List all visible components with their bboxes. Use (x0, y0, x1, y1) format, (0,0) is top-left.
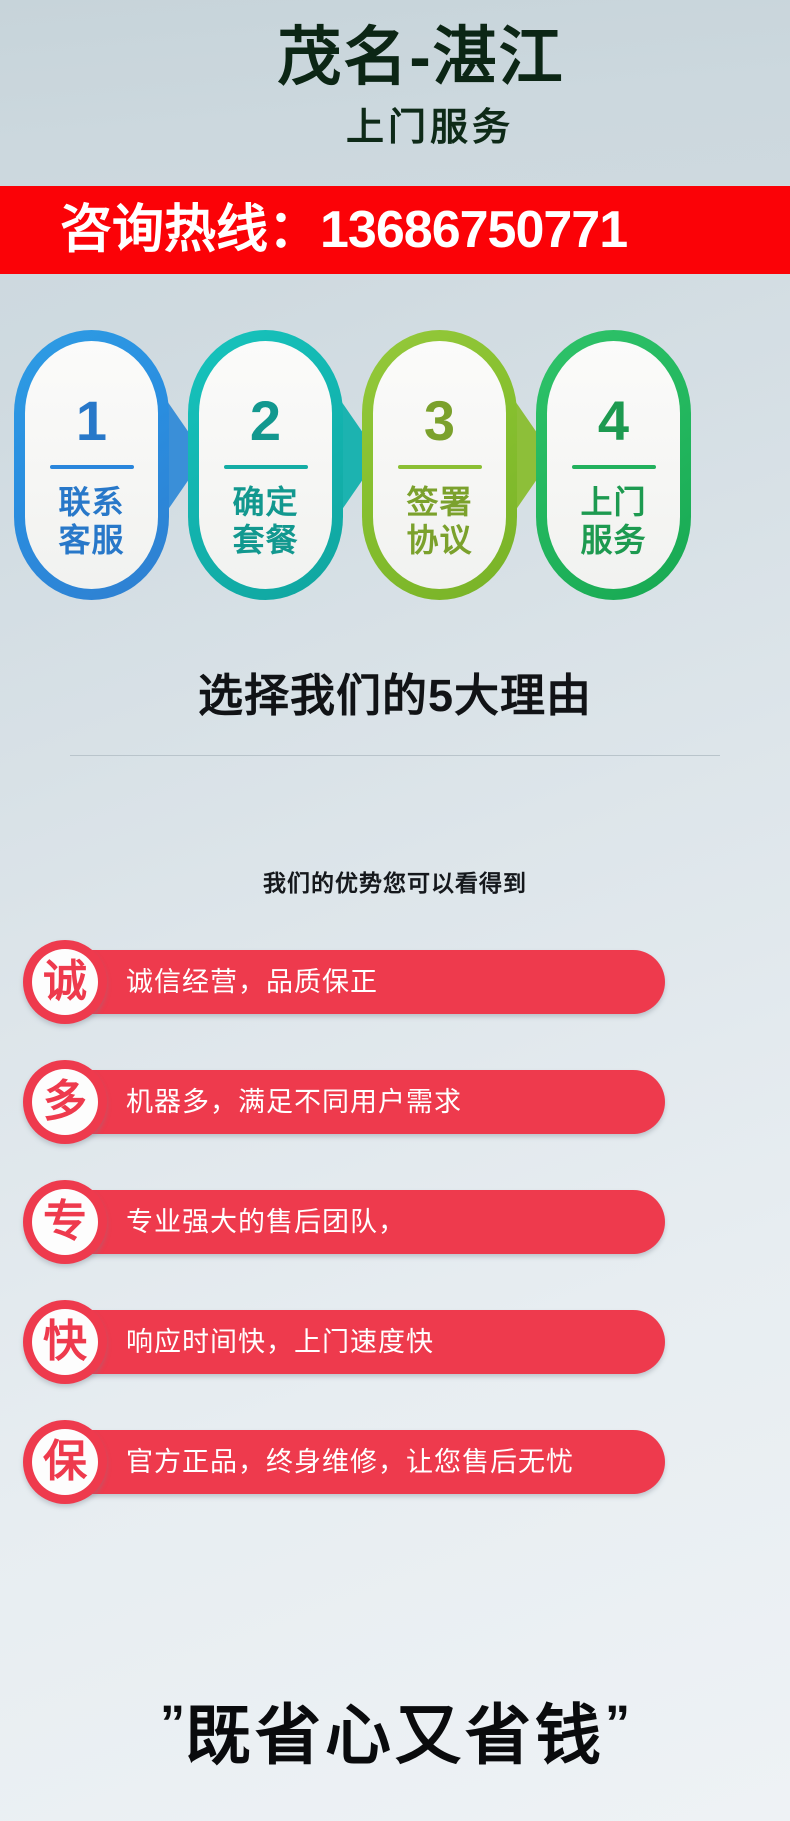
step-inner-1: 1 联系 客服 (25, 341, 158, 589)
step-rule-4 (572, 465, 656, 469)
slogan-open-quote: ” (160, 1695, 185, 1751)
footer-slogan: ”既省心又省钱” (0, 1680, 790, 1778)
list-item[interactable]: 多 机器多，满足不同用户需求 (0, 1060, 790, 1144)
reason-badge-char-4: 快 (32, 1309, 98, 1375)
step-label-4: 上门 服务 (580, 483, 646, 559)
reason-text-5: 官方正品，终身维修，让您售后无忧 (126, 1430, 574, 1494)
reasons-list: 诚 诚信经营，品质保正 多 机器多，满足不同用户需求 专 专业强大的售后团队， … (0, 940, 790, 1540)
reason-badge-char-2: 多 (32, 1069, 98, 1135)
reason-text-1: 诚信经营，品质保正 (126, 950, 378, 1014)
reason-badge-char-3: 专 (32, 1189, 98, 1255)
slogan-close-quote: ” (605, 1695, 630, 1751)
step-rule-2 (224, 465, 308, 469)
step-number-2: 2 (250, 391, 281, 451)
page-subtitle: 上门服务 (0, 104, 790, 152)
step-rule-1 (50, 465, 134, 469)
step-card-1[interactable]: 1 联系 客服 (14, 330, 169, 600)
process-steps: 1 联系 客服 2 确定 套餐 3 签署 协议 (0, 300, 790, 620)
reason-text-2: 机器多，满足不同用户需求 (126, 1070, 462, 1134)
step-label-3-line1: 签署 (406, 483, 472, 521)
section-divider (70, 755, 720, 756)
step-number-1: 1 (76, 391, 107, 451)
reason-text-4: 响应时间快，上门速度快 (126, 1310, 434, 1374)
step-label-4-line2: 服务 (580, 521, 646, 559)
reason-badge-2: 多 (23, 1060, 107, 1144)
step-card-2[interactable]: 2 确定 套餐 (188, 330, 343, 600)
step-label-1-line1: 联系 (58, 483, 124, 521)
list-item[interactable]: 专 专业强大的售后团队， (0, 1180, 790, 1264)
step-inner-2: 2 确定 套餐 (199, 341, 332, 589)
reason-badge-4: 快 (23, 1300, 107, 1384)
slogan-text: 既省心又省钱 (185, 1698, 605, 1772)
reason-badge-3: 专 (23, 1180, 107, 1264)
step-label-1-line2: 客服 (58, 521, 124, 559)
step-number-3: 3 (424, 391, 455, 451)
step-label-4-line1: 上门 (580, 483, 646, 521)
step-number-4: 4 (598, 391, 629, 451)
step-inner-3: 3 签署 协议 (373, 341, 506, 589)
reason-badge-1: 诚 (23, 940, 107, 1024)
step-rule-3 (398, 465, 482, 469)
page-title: 茂名-湛江 (0, 18, 790, 96)
step-label-3-line2: 协议 (406, 521, 472, 559)
reason-badge-5: 保 (23, 1420, 107, 1504)
header-banner: 茂名-湛江 上门服务 (0, 0, 790, 185)
list-item[interactable]: 诚 诚信经营，品质保正 (0, 940, 790, 1024)
step-label-1: 联系 客服 (58, 483, 124, 559)
hotline-number[interactable]: 13686750771 (320, 201, 627, 259)
step-label-2: 确定 套餐 (232, 483, 298, 559)
reasons-subtitle: 我们的优势您可以看得到 (0, 868, 790, 898)
reason-badge-char-1: 诚 (32, 949, 98, 1015)
step-label-2-line1: 确定 (232, 483, 298, 521)
hotline-banner[interactable]: 咨询热线：13686750771 (0, 186, 790, 274)
reason-badge-char-5: 保 (32, 1429, 98, 1495)
step-card-3[interactable]: 3 签署 协议 (362, 330, 517, 600)
step-inner-4: 4 上门 服务 (547, 341, 680, 589)
step-label-2-line2: 套餐 (232, 521, 298, 559)
step-card-4[interactable]: 4 上门 服务 (536, 330, 691, 600)
list-item[interactable]: 保 官方正品，终身维修，让您售后无忧 (0, 1420, 790, 1504)
hotline-label: 咨询热线： (60, 201, 320, 259)
list-item[interactable]: 快 响应时间快，上门速度快 (0, 1300, 790, 1384)
reason-text-3: 专业强大的售后团队， (126, 1190, 406, 1254)
hotline-text: 咨询热线：13686750771 (0, 200, 627, 260)
step-label-3: 签署 协议 (406, 483, 472, 559)
reasons-title: 选择我们的5大理由 (0, 668, 790, 724)
